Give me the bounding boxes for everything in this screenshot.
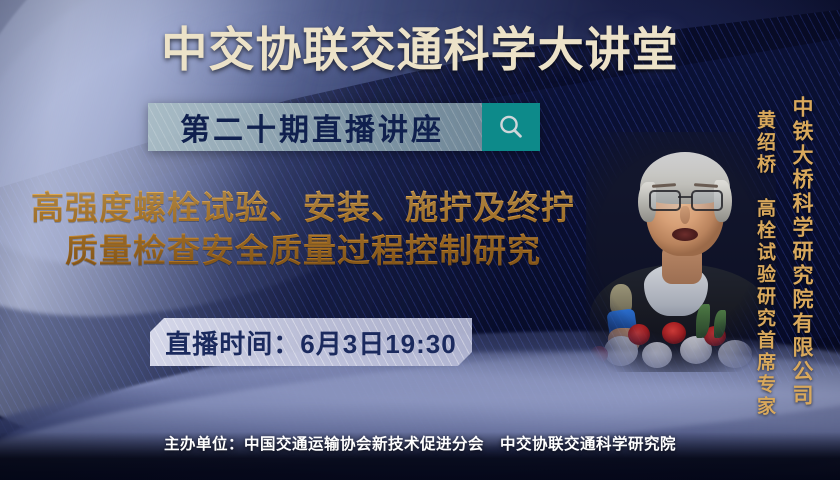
episode-search-bar[interactable]: 第二十期直播讲座	[148, 103, 540, 151]
speaker-name-and-role: 黄绍桥 高栓试验研究首席专家	[751, 110, 778, 418]
episode-label: 第二十期直播讲座	[148, 105, 482, 149]
search-button[interactable]	[482, 103, 540, 151]
search-icon	[496, 112, 526, 142]
organizer-footer: 主办单位：中国交通运输协会新技术促进分会 中交协联交通科学研究院	[0, 432, 840, 454]
speaker-organization: 中铁大桥科学研究院有限公司	[786, 96, 816, 408]
photo-edge-fade	[586, 132, 776, 372]
lecture-title: 高强度螺栓试验、安装、施拧及终拧 质量检查安全质量过程控制研究	[8, 186, 598, 272]
live-lecture-poster: 中交协联交通科学大讲堂 第二十期直播讲座 高强度螺栓试验、安装、施拧及终拧 质量…	[0, 0, 840, 480]
speaker-photo	[586, 132, 776, 372]
broadcast-time-badge: 直播时间：6月3日19:30	[150, 318, 472, 366]
broadcast-time-text: 直播时间：6月3日19:30	[165, 324, 456, 361]
page-title: 中交协联交通科学大讲堂	[8, 22, 831, 78]
